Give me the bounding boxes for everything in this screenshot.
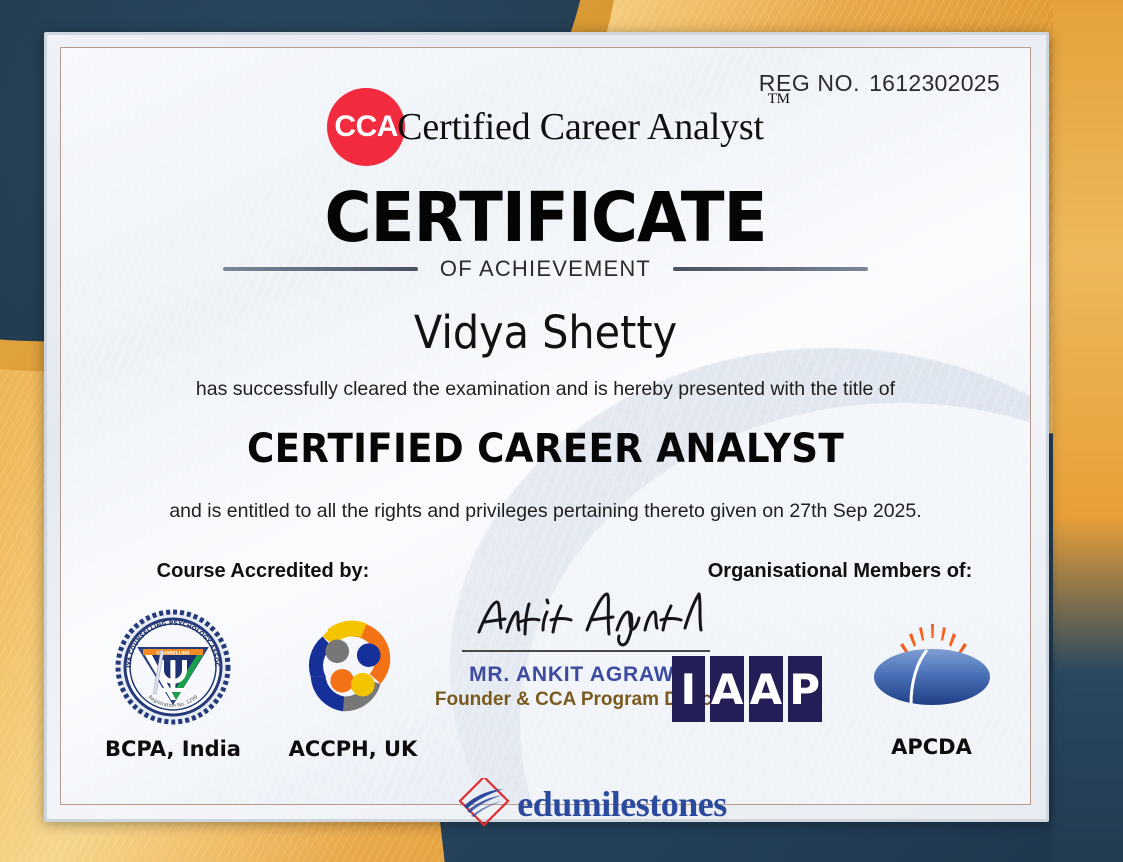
iaap-letter-4: P <box>788 656 822 722</box>
right-edge-strip <box>1053 0 1123 862</box>
brand-name-text: Certified Career Analyst <box>397 106 764 148</box>
recipient-name: Vidya Shetty <box>100 306 991 359</box>
certificate-content: REG NO.1612302025 CCA Certified Career A… <box>61 48 1030 804</box>
accreditation-logos: BARATIYA COUNSELLING PSYCHOLOGY ASSOCIAT… <box>83 608 443 761</box>
certificate-document: REG NO.1612302025 CCA Certified Career A… <box>0 0 1123 862</box>
partner-name: edumilestones <box>517 783 727 825</box>
logo-apcda: APCDA <box>857 620 1007 759</box>
page-title: CERTIFICATE <box>95 178 996 258</box>
partner-logo: edumilestones <box>436 778 746 830</box>
iaap-letter-1: I <box>672 656 706 722</box>
citation-line-1: has successfully cleared the examination… <box>61 378 1030 401</box>
logo-iaap: I A A P <box>672 620 822 722</box>
citation-line-2: and is entitled to all the rights and pr… <box>61 500 1030 523</box>
logo-accph: ACCPH, UK <box>278 608 428 761</box>
bcpa-seal-icon: BARATIYA COUNSELLING PSYCHOLOGY ASSOCIAT… <box>114 608 232 726</box>
trademark-icon: TM <box>768 91 790 108</box>
award-title: CERTIFIED CAREER ANALYST <box>95 426 996 472</box>
iaap-letter-3: A <box>749 656 783 722</box>
subtitle-row: OF ACHIEVEMENT <box>61 256 1030 282</box>
logo-caption-bcpa: BCPA, India <box>98 737 248 761</box>
divider-line-right <box>673 267 868 271</box>
logo-caption-accph: ACCPH, UK <box>278 737 428 761</box>
organisational-label: Organisational Members of: <box>660 560 1020 583</box>
divider-line-left <box>223 267 418 271</box>
logo-caption-apcda: APCDA <box>857 735 1007 759</box>
iaap-letter-2: A <box>710 656 744 722</box>
edumilestones-diamond-icon <box>455 778 513 830</box>
organisational-logos: I A A P <box>654 620 1024 759</box>
iaap-blocks-icon: I A A P <box>672 656 822 722</box>
subtitle: OF ACHIEVEMENT <box>440 256 651 282</box>
logo-bcpa: BARATIYA COUNSELLING PSYCHOLOGY ASSOCIAT… <box>98 608 248 761</box>
brand-name: Certified Career Analyst TM <box>397 105 764 149</box>
brand-logo: CCA Certified Career Analyst TM <box>61 88 1030 166</box>
accreditation-label: Course Accredited by: <box>83 560 443 583</box>
cca-badge-icon: CCA <box>327 88 405 166</box>
apcda-sunrise-icon <box>867 620 997 724</box>
accph-pinwheel-icon <box>294 608 412 726</box>
